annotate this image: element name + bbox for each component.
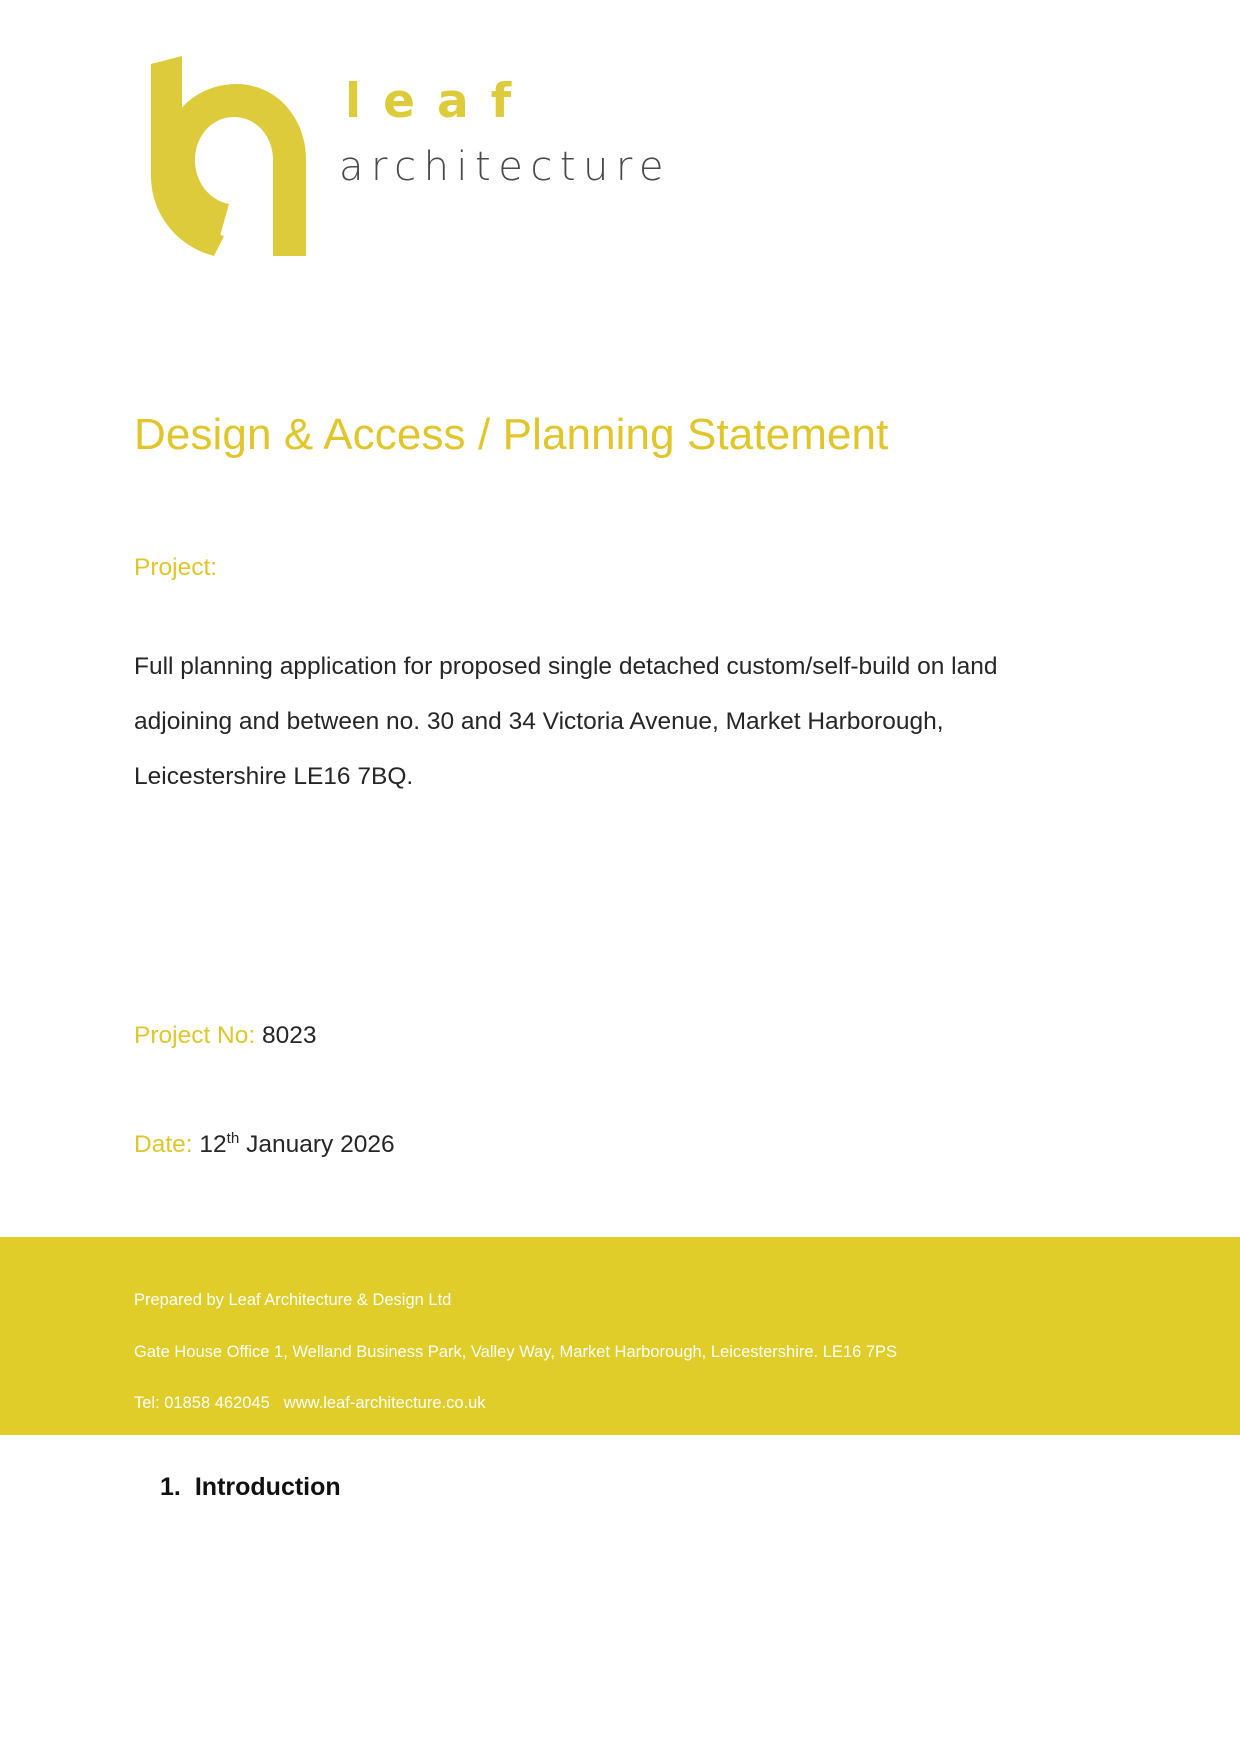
logo-word-architecture: architecture bbox=[339, 125, 799, 187]
project-number-label: Project No: bbox=[134, 1022, 255, 1049]
date-label: Date: bbox=[134, 1131, 193, 1158]
footer-contact-details: Prepared by Leaf Architecture & Design L… bbox=[134, 1292, 897, 1412]
project-description: Full planning application for proposed s… bbox=[134, 581, 1014, 804]
page-title: Design & Access / Planning Statement bbox=[134, 410, 888, 460]
section-number: 1. bbox=[160, 1473, 181, 1501]
date-row: Date: 12th January 2026 bbox=[134, 1133, 395, 1158]
logo-wordmark: leaf architecture bbox=[339, 78, 799, 187]
document-page: leaf architecture Design & Access / Plan… bbox=[0, 0, 1240, 1755]
leaf-monogram-icon bbox=[134, 56, 309, 256]
date-month-year: January 2026 bbox=[246, 1131, 394, 1158]
project-label: Project: bbox=[134, 556, 1014, 581]
section-heading-introduction: 1.Introduction bbox=[160, 1475, 341, 1500]
logo-word-leaf: leaf bbox=[339, 78, 799, 125]
company-logo: leaf architecture bbox=[134, 56, 694, 261]
date-ordinal-suffix: th bbox=[227, 1130, 240, 1147]
footer-tel-web: Tel: 01858 462045www.leaf-architecture.c… bbox=[134, 1395, 897, 1412]
section-title: Introduction bbox=[195, 1473, 341, 1501]
footer-prepared-by: Prepared by Leaf Architecture & Design L… bbox=[134, 1292, 897, 1309]
footer-address: Gate House Office 1, Welland Business Pa… bbox=[134, 1344, 897, 1361]
project-number-row: Project No: 8023 bbox=[134, 1024, 317, 1049]
project-block: Project: Full planning application for p… bbox=[134, 556, 1014, 804]
footer-tel: Tel: 01858 462045 bbox=[134, 1394, 270, 1412]
project-number-value: 8023 bbox=[262, 1022, 317, 1049]
date-day: 12 bbox=[199, 1131, 226, 1158]
footer-website[interactable]: www.leaf-architecture.co.uk bbox=[284, 1394, 486, 1412]
footer-band: Prepared by Leaf Architecture & Design L… bbox=[0, 1237, 1240, 1435]
